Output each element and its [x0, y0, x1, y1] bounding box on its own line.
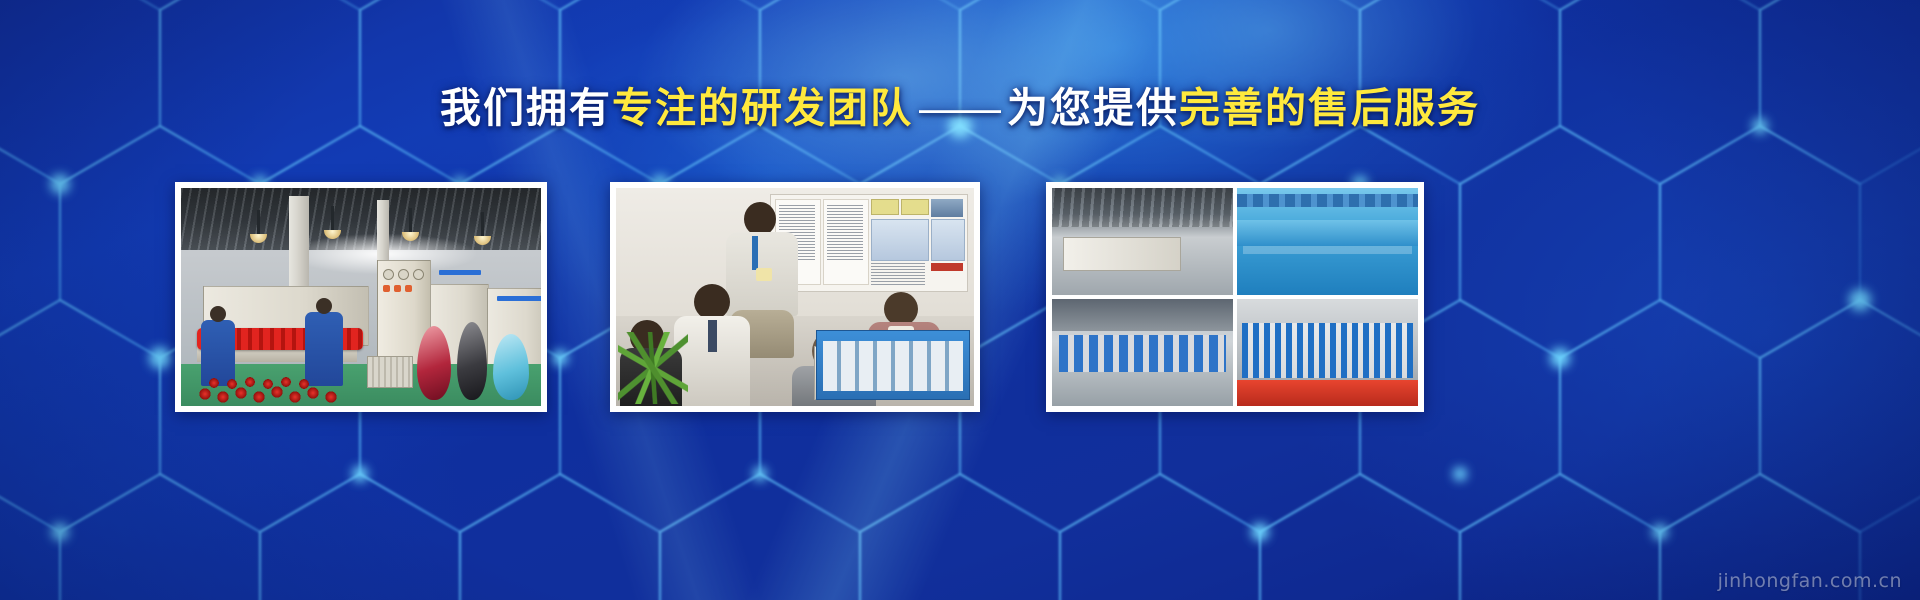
- photo-panel-meeting[interactable]: [610, 182, 980, 412]
- person-standing-head: [744, 202, 776, 236]
- person-standing-lanyard: [752, 236, 758, 270]
- board-text-lines-2: [827, 205, 863, 261]
- meeting-photo: [616, 188, 974, 406]
- board-red-strip: [931, 263, 963, 271]
- board-machine-diagram-2: [931, 219, 965, 261]
- board-machine-diagram-1: [871, 219, 929, 261]
- collage-cell-blue-pipeline: [1237, 188, 1418, 295]
- promo-banner: 我们拥有专注的研发团队——为您提供完善的售后服务: [0, 0, 1920, 600]
- ceiling-lamp-1: [257, 210, 260, 236]
- ceiling-lamp-4: [481, 212, 484, 238]
- factory-line-photo: [181, 188, 541, 406]
- collage-cell-workshop-hall: [1052, 188, 1233, 295]
- headline-dash: ——: [913, 85, 1007, 131]
- person-right-head: [884, 292, 918, 326]
- ceiling-lamp-3: [409, 208, 412, 234]
- red-balls-pile: [193, 370, 373, 404]
- site-watermark: jinhongfan.com.cn: [1718, 570, 1902, 592]
- photo-frame-3: [1052, 188, 1418, 406]
- control-buttons: [383, 285, 412, 292]
- board-certificate-2: [901, 199, 929, 215]
- person-center-tie: [708, 320, 717, 352]
- photo-frame-2: [616, 188, 974, 406]
- collage-cell-conveyor-hangers: [1237, 299, 1418, 406]
- headline-part-4-highlight: 完善的售后服务: [1179, 85, 1480, 131]
- machine-label-blue: [439, 270, 481, 275]
- headline-part-2-highlight: 专注的研发团队: [612, 85, 913, 131]
- person-standing-badge: [756, 268, 772, 281]
- machine-label-blue-2: [497, 296, 541, 301]
- board-photo-1: [931, 199, 963, 217]
- blue-machine-photo: [816, 330, 970, 400]
- control-knobs: [383, 269, 424, 280]
- potted-plant: [618, 332, 688, 404]
- board-text-lines-3: [871, 263, 925, 285]
- headline-part-3: 为您提供: [1007, 85, 1179, 131]
- person-center-head: [694, 284, 730, 320]
- headline-part-1: 我们拥有: [440, 85, 612, 131]
- collage-cell-coating-line: [1052, 299, 1233, 406]
- photo-panel-factory-line[interactable]: [175, 182, 547, 412]
- plastic-crate: [367, 356, 413, 388]
- equipment-collage: [1052, 188, 1418, 406]
- presentation-board: [770, 194, 968, 292]
- banner-headline: 我们拥有专注的研发团队——为您提供完善的售后服务: [0, 82, 1920, 134]
- ceiling-lamp-2: [331, 206, 334, 232]
- photo-panel-equipment-collage[interactable]: [1046, 182, 1424, 412]
- board-certificate-1: [871, 199, 899, 215]
- photo-frame-1: [181, 188, 541, 406]
